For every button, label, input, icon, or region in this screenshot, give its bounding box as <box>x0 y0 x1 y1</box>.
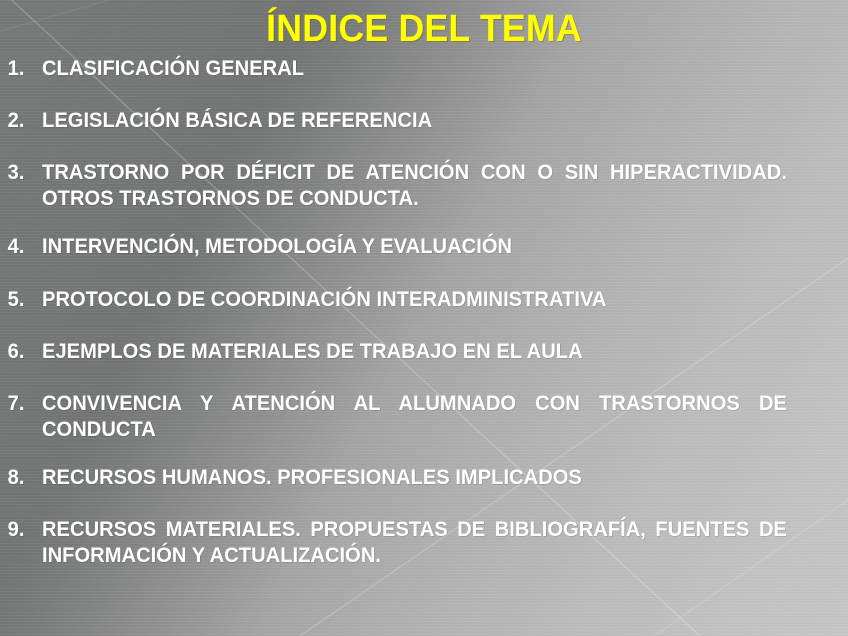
list-spacer <box>0 260 848 287</box>
agenda-list: 1. CLASIFICACIÓN GENERAL 2. LEGISLACIÓN … <box>0 56 848 569</box>
list-item: 4. INTERVENCIÓN, METODOLOGÍA Y EVALUACIÓ… <box>0 234 848 260</box>
list-item-text: INTERVENCIÓN, METODOLOGÍA Y EVALUACIÓN <box>42 234 816 260</box>
list-spacer <box>0 212 848 234</box>
list-item-text: TRASTORNO POR DÉFICIT DE ATENCIÓN CON O … <box>42 160 816 212</box>
list-item-number: 5. <box>0 287 40 313</box>
list-item-number: 4. <box>0 234 40 260</box>
list-item: 1. CLASIFICACIÓN GENERAL <box>0 56 848 82</box>
list-item-text: CLASIFICACIÓN GENERAL <box>42 56 816 82</box>
list-spacer <box>0 443 848 465</box>
list-item-text: RECURSOS MATERIALES. PROPUESTAS DE BIBLI… <box>42 517 816 569</box>
list-item: 5. PROTOCOLO DE COORDINACIÓN INTERADMINI… <box>0 287 848 313</box>
list-item: 6. EJEMPLOS DE MATERIALES DE TRABAJO EN … <box>0 339 848 365</box>
list-item-number: 6. <box>0 339 40 365</box>
list-item: 7. CONVIVENCIA Y ATENCIÓN AL ALUMNADO CO… <box>0 391 848 443</box>
list-item: 2. LEGISLACIÓN BÁSICA DE REFERENCIA <box>0 108 848 134</box>
list-item: 9. RECURSOS MATERIALES. PROPUESTAS DE BI… <box>0 517 848 569</box>
list-item-text: RECURSOS HUMANOS. PROFESIONALES IMPLICAD… <box>42 465 816 491</box>
list-item-number: 8. <box>0 465 40 491</box>
list-item-number: 3. <box>0 160 40 186</box>
list-spacer <box>0 365 848 391</box>
list-item-text: EJEMPLOS DE MATERIALES DE TRABAJO EN EL … <box>42 339 816 365</box>
presentation-slide: ÍNDICE DEL TEMA 1. CLASIFICACIÓN GENERAL… <box>0 0 848 636</box>
list-item-number: 9. <box>0 517 40 543</box>
list-item-text: CONVIVENCIA Y ATENCIÓN AL ALUMNADO CON T… <box>42 391 816 443</box>
list-item-text: PROTOCOLO DE COORDINACIÓN INTERADMINISTR… <box>42 287 816 313</box>
list-item-text: LEGISLACIÓN BÁSICA DE REFERENCIA <box>42 108 816 134</box>
list-item-number: 2. <box>0 108 40 134</box>
list-item-number: 1. <box>0 56 40 82</box>
list-spacer <box>0 134 848 160</box>
slide-title: ÍNDICE DEL TEMA <box>25 7 822 51</box>
list-item: 8. RECURSOS HUMANOS. PROFESIONALES IMPLI… <box>0 465 848 491</box>
list-spacer <box>0 313 848 339</box>
list-item: 3. TRASTORNO POR DÉFICIT DE ATENCIÓN CON… <box>0 160 848 212</box>
list-spacer <box>0 82 848 108</box>
list-spacer <box>0 491 848 517</box>
list-item-number: 7. <box>0 391 40 417</box>
